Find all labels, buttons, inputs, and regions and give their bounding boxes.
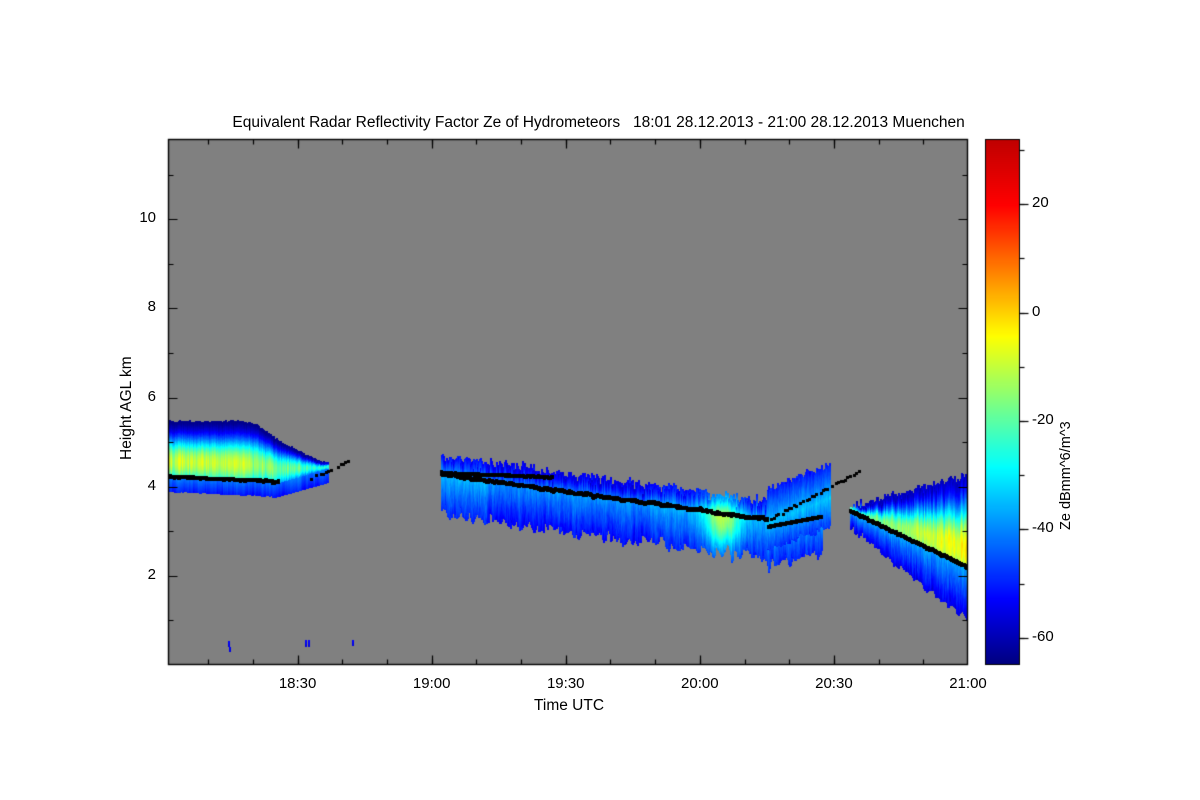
colorbar-label: Ze dBmm^6/m^3 bbox=[1058, 421, 1074, 530]
x-tick-label-20-30: 20:30 bbox=[789, 675, 879, 692]
x-tick-label-21-00: 21:00 bbox=[923, 675, 1013, 692]
y-axis-label: Height AGL km bbox=[118, 356, 136, 460]
x-tick-label-19-30: 19:30 bbox=[521, 675, 611, 692]
x-tick-label-20-00: 20:00 bbox=[655, 675, 745, 692]
colorbar-tick-label-neg40: -40 bbox=[1032, 519, 1078, 536]
colorbar-tick-label-20: 20 bbox=[1032, 194, 1078, 211]
y-tick-label-6: 6 bbox=[98, 388, 156, 405]
y-tick-label-10: 10 bbox=[98, 209, 156, 226]
radar-reflectivity-figure: Equivalent Radar Reflectivity Factor Ze … bbox=[0, 0, 1200, 800]
y-tick-label-8: 8 bbox=[98, 298, 156, 315]
x-tick-label-19-00: 19:00 bbox=[387, 675, 477, 692]
colorbar-tick-label-0: 0 bbox=[1032, 303, 1078, 320]
y-tick-label-2: 2 bbox=[98, 566, 156, 583]
x-tick-label-18-30: 18:30 bbox=[253, 675, 343, 692]
x-axis-label: Time UTC bbox=[0, 697, 1138, 715]
colorbar-tick-label-neg60: -60 bbox=[1032, 628, 1078, 645]
y-tick-label-4: 4 bbox=[98, 477, 156, 494]
colorbar-tick-label-neg20: -20 bbox=[1032, 411, 1078, 428]
